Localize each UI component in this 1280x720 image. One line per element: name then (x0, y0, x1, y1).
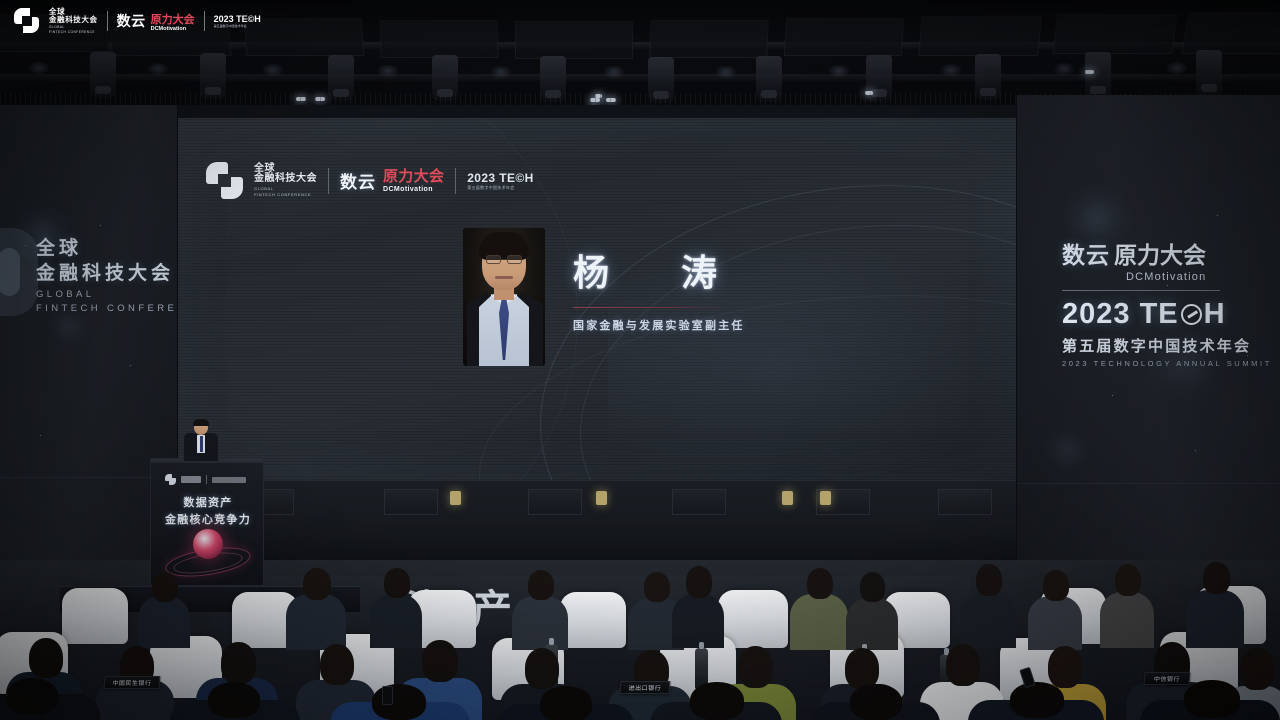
overlay-divider (107, 11, 108, 31)
overlay-gfc-text: 全球 金融科技大会 GLOBAL FINTECH CONFERENCE (49, 8, 98, 35)
podium-logo-lockup (165, 474, 246, 485)
audience-person (1186, 562, 1244, 646)
audience-person (512, 570, 568, 648)
audience-person-front (968, 682, 1104, 720)
speaker-portrait (463, 228, 545, 366)
at-symbol-icon (1181, 304, 1202, 325)
podium-headline-line1: 数据资产 (161, 495, 255, 512)
overlay-dcm-en: DCMotivation (151, 27, 195, 33)
overlay-gfc-en1: GLOBAL (49, 26, 98, 30)
gfc-swirl-icon (206, 162, 243, 199)
name-underline (573, 307, 729, 308)
table-nameplate: 中国民生银行 (104, 676, 161, 689)
overlay-year: 2023 TE©H (214, 14, 261, 24)
overlay-year-block: 2023 TE©H 第五届数字中国技术年会 (214, 14, 261, 28)
screen-gfc-en2: FINTECH CONFERENCE (254, 193, 317, 197)
right-wall-brand-cn2: 原力大会 (1114, 236, 1206, 270)
logo-divider-2 (455, 168, 456, 194)
screen-year-block: 2023 TE©H 第五届数字中国技术年会 (467, 171, 533, 191)
overlay-year-sub: 第五届数字中国技术年会 (214, 24, 261, 28)
right-wall-brand-cn: 数云 (1062, 236, 1110, 270)
overlay-dcm-lockup: 数云 原力大会 DCMotivation (117, 11, 195, 33)
logo-divider (328, 168, 329, 194)
screen-gfc-cn2: 金融科技大会 (254, 174, 317, 185)
screen-year: 2023 TE©H (467, 171, 533, 185)
screen-dcm-accent-cn: 原力大会 (383, 168, 444, 185)
right-wall-year-lockup: 2023 TE H (1062, 298, 1272, 331)
audience-person-front (330, 684, 470, 720)
audience-person (846, 572, 898, 648)
audience-person-front (650, 682, 782, 720)
gfc-overlay-icon (14, 8, 40, 34)
right-wall-summit-cn: 第五届数字中国技术年会 (1062, 335, 1272, 356)
audience-person (672, 566, 724, 646)
screen-dcm-cn: 数云 (340, 168, 376, 193)
screen-speaker-name-block: 杨 涛 国家金融与发展实验室副主任 (573, 244, 873, 333)
conference-stage-photo: 全球 金融科技大会 GLOBAL FINTECH CONFERENCE 数云 原… (0, 0, 1280, 720)
audience-person-front (1140, 680, 1280, 720)
audience-person-front (812, 684, 940, 720)
screen-year-sub: 第五届数字中国技术年会 (467, 185, 533, 191)
right-wall-branding: 数云 原力大会 DCMotivation 2023 TE H 第五届数字中国技术… (1062, 236, 1272, 368)
audience-person-front (170, 682, 300, 720)
smartphone (382, 686, 393, 705)
audience-person-front (498, 686, 634, 720)
screen-logo-lockup: 全球 金融科技大会 GLOBAL FINTECH CONFERENCE 数云 原… (206, 162, 534, 199)
podium-gfc-icon (165, 474, 176, 485)
right-wall-summit-en: 2023 TECHNOLOGY ANNUAL SUMMIT (1062, 359, 1272, 368)
speaker-name: 杨 涛 (573, 244, 873, 296)
audience-person-front (0, 678, 100, 720)
audience-person (1100, 564, 1154, 646)
screen-dcm-lockup: 数云 原力大会 DCMotivation (340, 168, 444, 193)
audience-area: 中国民生银行 进出口银行 中信银行 (0, 520, 1280, 720)
audience-person (286, 568, 346, 648)
audience-person (1028, 570, 1082, 648)
overlay-gfc-cn2: 金融科技大会 (49, 16, 98, 24)
presenter-at-podium (183, 420, 219, 460)
screen-gfc-text: 全球 金融科技大会 GLOBAL FINTECH CONFERENCE (254, 164, 317, 197)
audience-person (960, 564, 1016, 646)
broadcast-overlay-logos: 全球 金融科技大会 GLOBAL FINTECH CONFERENCE 数云 原… (14, 8, 261, 35)
overlay-dcm-cn: 数云 (117, 11, 146, 31)
audience-person (790, 568, 848, 648)
right-wall-year-prefix: 2023 TE (1062, 298, 1179, 331)
right-wall-year-suffix: H (1204, 298, 1226, 331)
overlay-dcm-accent: 原力大会 (151, 14, 195, 26)
right-wall-brand-en: DCMotivation (1126, 271, 1272, 283)
screen-dcm-accent-en: DCMotivation (383, 186, 444, 193)
audience-person (138, 572, 190, 646)
overlay-gfc-en2: FINTECH CONFERENCE (49, 31, 98, 35)
right-wall-divider (1062, 290, 1220, 291)
speaker-title: 国家金融与发展实验室副主任 (573, 317, 873, 333)
audience-person (370, 568, 422, 646)
nameplate-label: 中国民生银行 (112, 678, 152, 687)
overlay-divider-2 (204, 11, 205, 31)
screen-gfc-en1: GLOBAL (254, 187, 317, 191)
